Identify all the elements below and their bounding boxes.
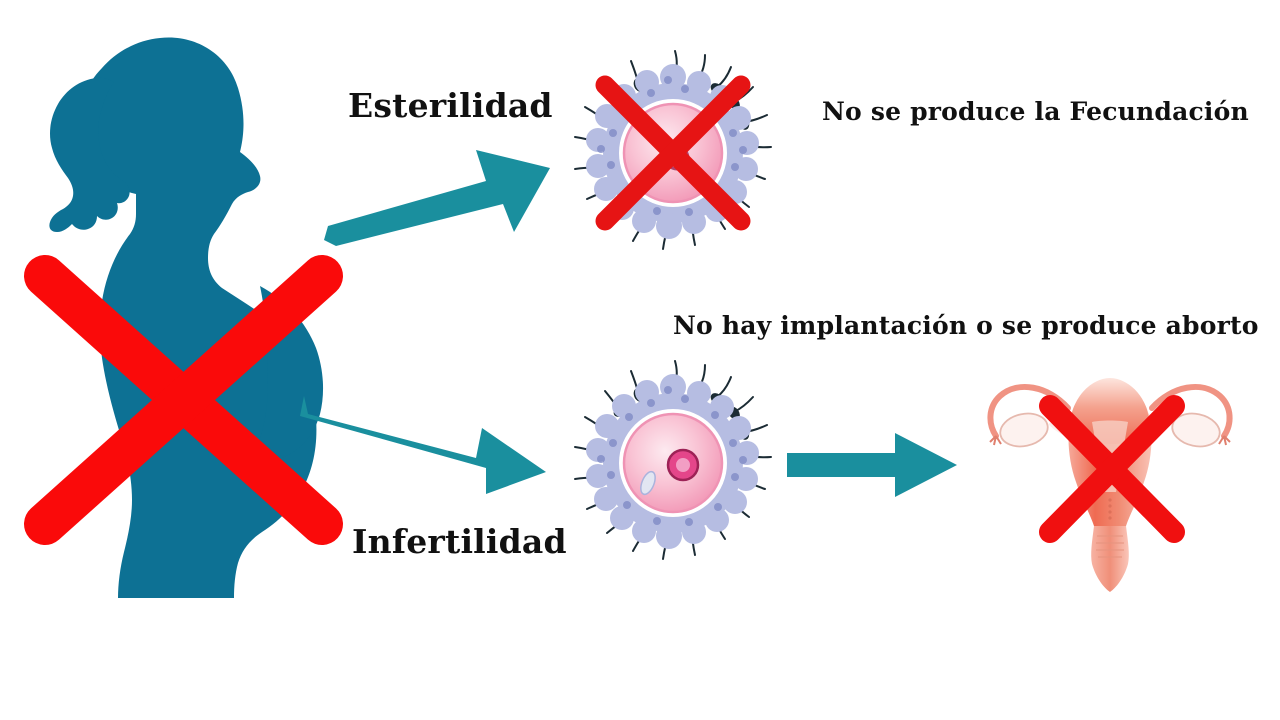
nucleolus	[676, 458, 690, 472]
arrow-uterus	[785, 425, 960, 505]
ovum-with-sperm-crossed	[565, 45, 785, 265]
label-infertilidad: Infertilidad	[352, 522, 567, 561]
label-no-fecundacion: No se produce la Fecundación	[822, 97, 1249, 126]
arrow-infertilidad	[300, 392, 550, 502]
label-no-implantacion: No hay implantación o se produce aborto	[673, 311, 1259, 340]
uterus-anatomy-crossed	[960, 350, 1260, 600]
diagram-canvas: Esterilidad Infertilidad No se produce l…	[0, 0, 1280, 720]
pregnant-woman-silhouette	[10, 18, 380, 598]
label-esterilidad: Esterilidad	[348, 86, 553, 125]
arrow-esterilidad	[318, 128, 558, 248]
ovum-with-sperm	[565, 355, 785, 575]
